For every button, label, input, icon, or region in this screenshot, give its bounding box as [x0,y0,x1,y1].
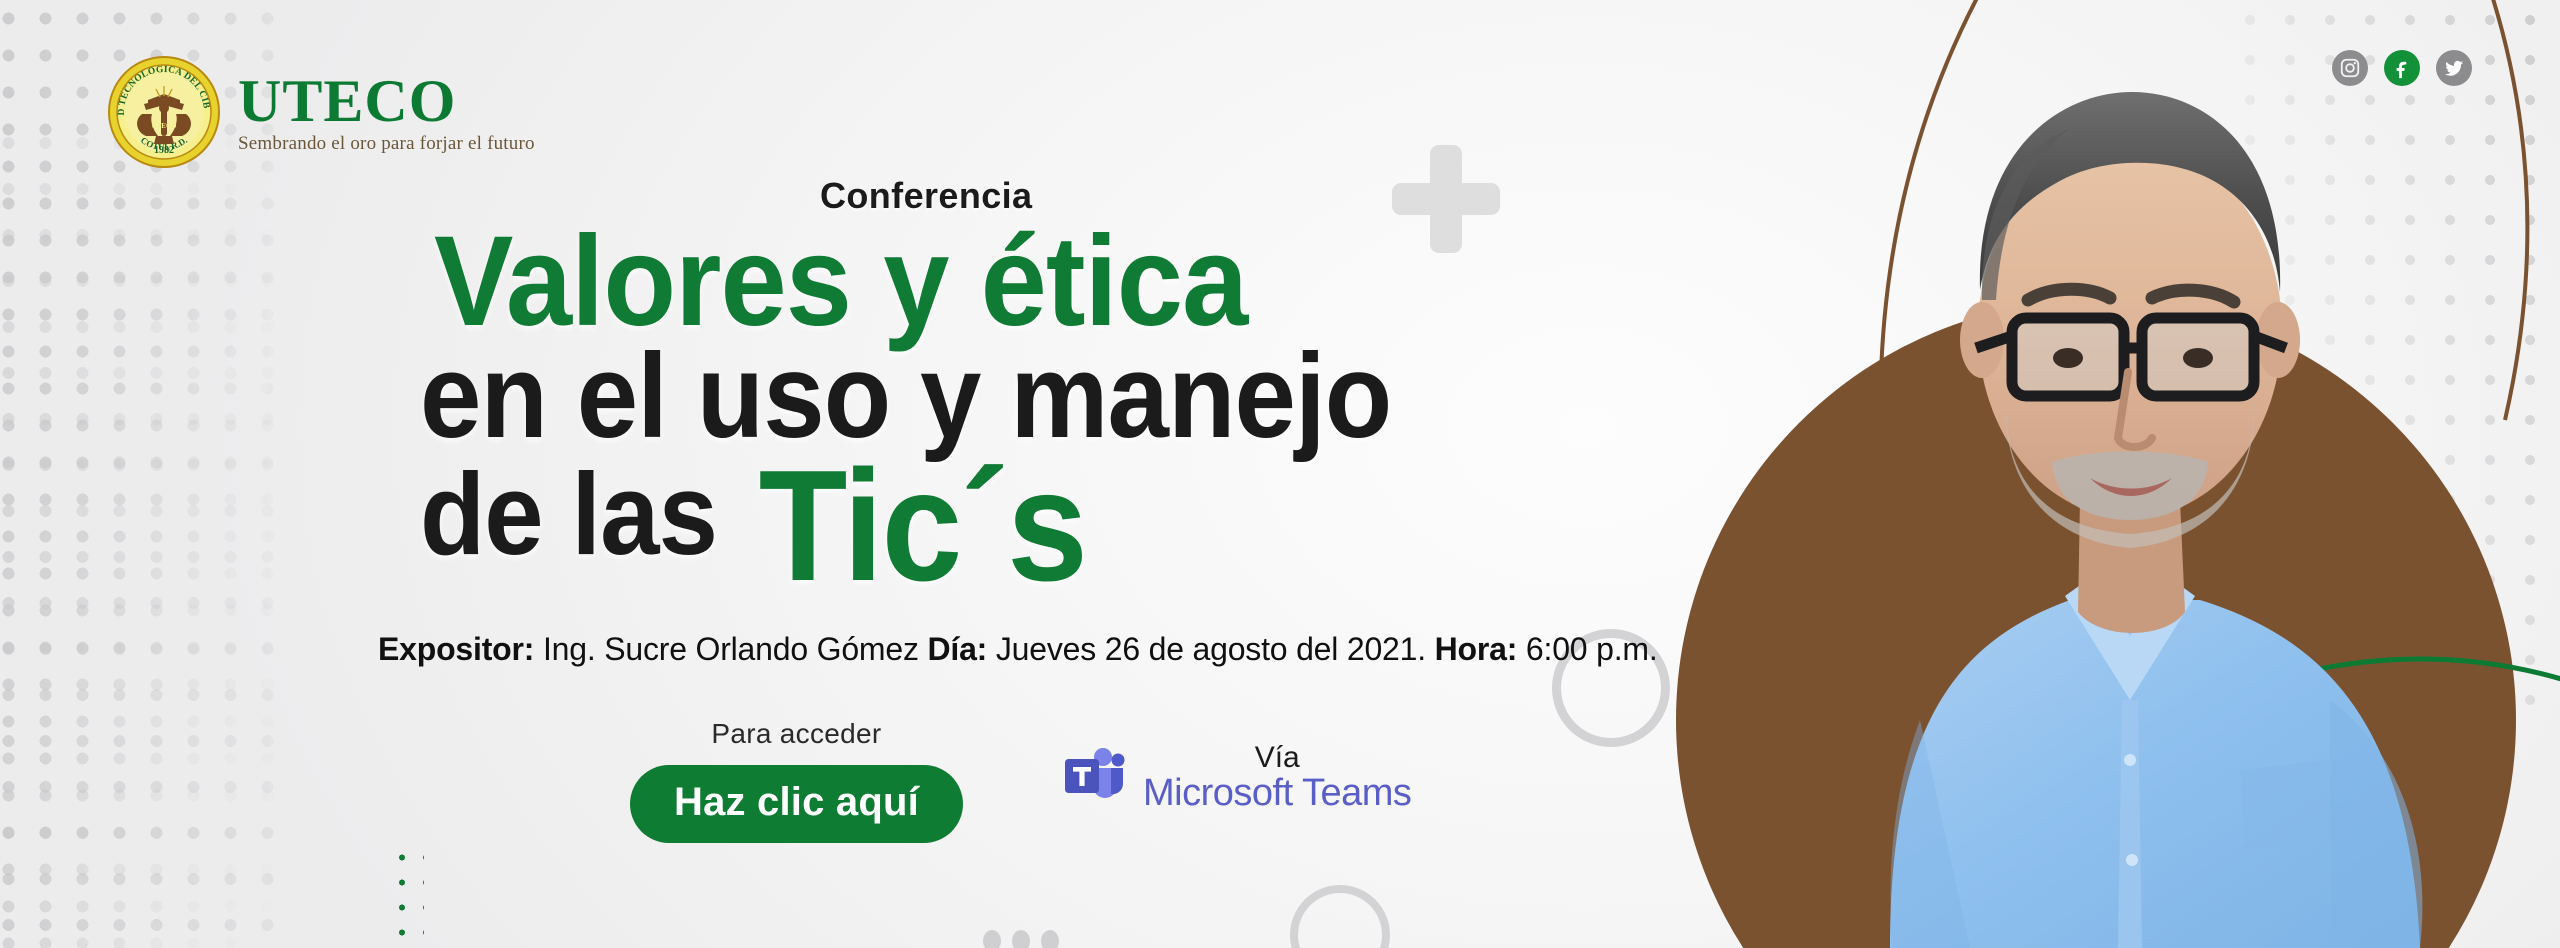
headline-accent-tics: Tic´s [759,438,1086,614]
platform-via-label: Vía [1143,742,1411,774]
haz-clic-aqui-button[interactable]: Haz clic aquí [630,765,963,843]
cta-block: Para acceder Haz clic aquí [630,718,963,843]
expositor-value: Ing. Sucre Orlando Gómez [543,631,919,667]
hora-value: 6:00 p.m. [1526,631,1658,667]
instagram-icon[interactable] [2332,50,2368,86]
headline-line-3: de las Tic´s [420,440,1086,614]
headline-line-3-prefix: de las [420,449,746,579]
hora-label: Hora: [1435,631,1518,667]
presenter-details: Expositor: Ing. Sucre Orlando Gómez Día:… [378,631,1658,668]
expositor-label: Expositor: [378,631,534,667]
microsoft-teams-icon [1063,746,1125,809]
dia-value: Jueves 26 de agosto del 2021. [996,631,1426,667]
platform-block[interactable]: Vía Microsoft Teams [1063,742,1411,813]
cta-label: Para acceder [630,718,963,750]
platform-name: Microsoft Teams [1143,774,1411,814]
facebook-icon[interactable] [2384,50,2420,86]
speaker-portrait [1770,0,2490,948]
social-links [2332,50,2472,86]
dia-label: Día: [927,631,987,667]
twitter-icon[interactable] [2436,50,2472,86]
hero-content: Conferencia Valores y ética en el uso y … [0,0,1560,948]
conference-banner: UNIVERSIDAD TECNOLOGICA DEL CIBAO ORIENT… [0,0,2560,948]
